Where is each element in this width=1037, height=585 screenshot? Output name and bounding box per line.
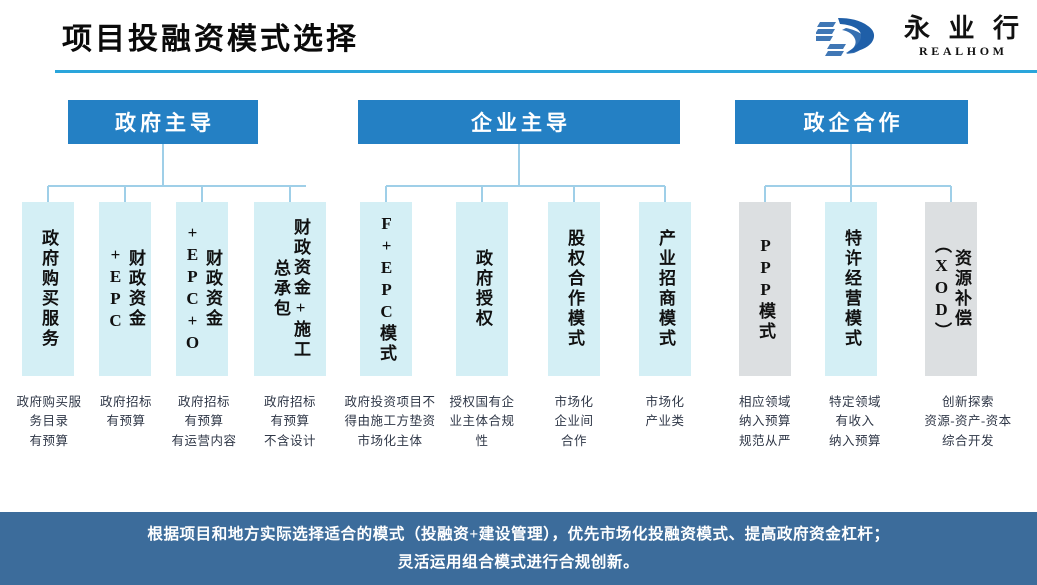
yh-monogram-icon — [816, 14, 890, 58]
mode-box-industry-investment[interactable]: 产业招商模式 — [639, 202, 691, 376]
slide-header: 项目投融资模式选择 永 业 行 REALHOM — [0, 0, 1037, 78]
mode-box-resource-compensation-xod[interactable]: 资源补偿（XOD） — [925, 202, 977, 376]
group-header-gov-enterprise-coop[interactable]: 政企合作 — [735, 100, 968, 144]
mode-box-equity-cooperation[interactable]: 股权合作模式 — [548, 202, 600, 376]
mode-box-gov-purchase-service[interactable]: 政府购买服务 — [22, 202, 74, 376]
mode-desc-f-epc-mode: 政府投资项目不得由施工方垫资 市场化主体 — [340, 393, 440, 451]
logo-name-en: REALHOM — [915, 45, 1007, 57]
diagram-canvas: 政府主导 企业主导 政企合作 政府购买服务 财政资金+EPC 财政资金+EPC+… — [0, 78, 1037, 510]
company-logo: 永 业 行 REALHOM — [816, 8, 1025, 64]
mode-desc-fiscal-epc: 政府招标 有预算 — [91, 393, 161, 432]
mode-box-franchise-mode[interactable]: 特许经营模式 — [825, 202, 877, 376]
summary-banner: 根据项目和地方实际选择适合的模式（投融资+建设管理），优先市场化投融资模式、提高… — [0, 512, 1037, 585]
mode-desc-fiscal-epc-o: 政府招标 有预算 有运营内容 — [166, 393, 242, 451]
mode-desc-industry-investment: 市场化 产业类 — [631, 393, 699, 432]
mode-desc-resource-compensation-xod: 创新探索 资源-资产-资本 综合开发 — [910, 393, 1026, 451]
mode-box-fiscal-epc-o[interactable]: 财政资金+EPC+O — [176, 202, 228, 376]
mode-box-ppp-mode[interactable]: PPP模式 — [739, 202, 791, 376]
mode-box-f-epc-mode[interactable]: F+EPC模式 — [360, 202, 412, 376]
mode-box-gov-authorization[interactable]: 政府授权 — [456, 202, 508, 376]
group-header-enterprise-led[interactable]: 企业主导 — [358, 100, 680, 144]
logo-name-cn: 永 业 行 — [898, 16, 1025, 42]
title-underline-rule — [55, 70, 1037, 73]
page-title: 项目投融资模式选择 — [62, 14, 359, 58]
mode-desc-gov-purchase-service: 政府购买服务目录 有预算 — [14, 393, 84, 451]
mode-box-fiscal-epc[interactable]: 财政资金+EPC — [99, 202, 151, 376]
mode-desc-fiscal-construction-gc: 政府招标 有预算 不含设计 — [250, 393, 330, 451]
summary-line-2: 灵活运用组合模式进行合规创新。 — [398, 549, 640, 576]
mode-desc-franchise-mode: 特定领域 有收入 纳入预算 — [812, 393, 898, 451]
mode-desc-equity-cooperation: 市场化 企业间 合作 — [540, 393, 608, 451]
mode-desc-ppp-mode: 相应领域 纳入预算 规范从严 — [722, 393, 808, 451]
group-header-government-led[interactable]: 政府主导 — [68, 100, 258, 144]
summary-line-1: 根据项目和地方实际选择适合的模式（投融资+建设管理），优先市场化投融资模式、提高… — [147, 521, 889, 548]
mode-desc-gov-authorization: 授权国有企业主体合规性 — [448, 393, 516, 451]
mode-box-fiscal-construction-gc[interactable]: 财政资金+施工总承包 — [254, 202, 326, 376]
